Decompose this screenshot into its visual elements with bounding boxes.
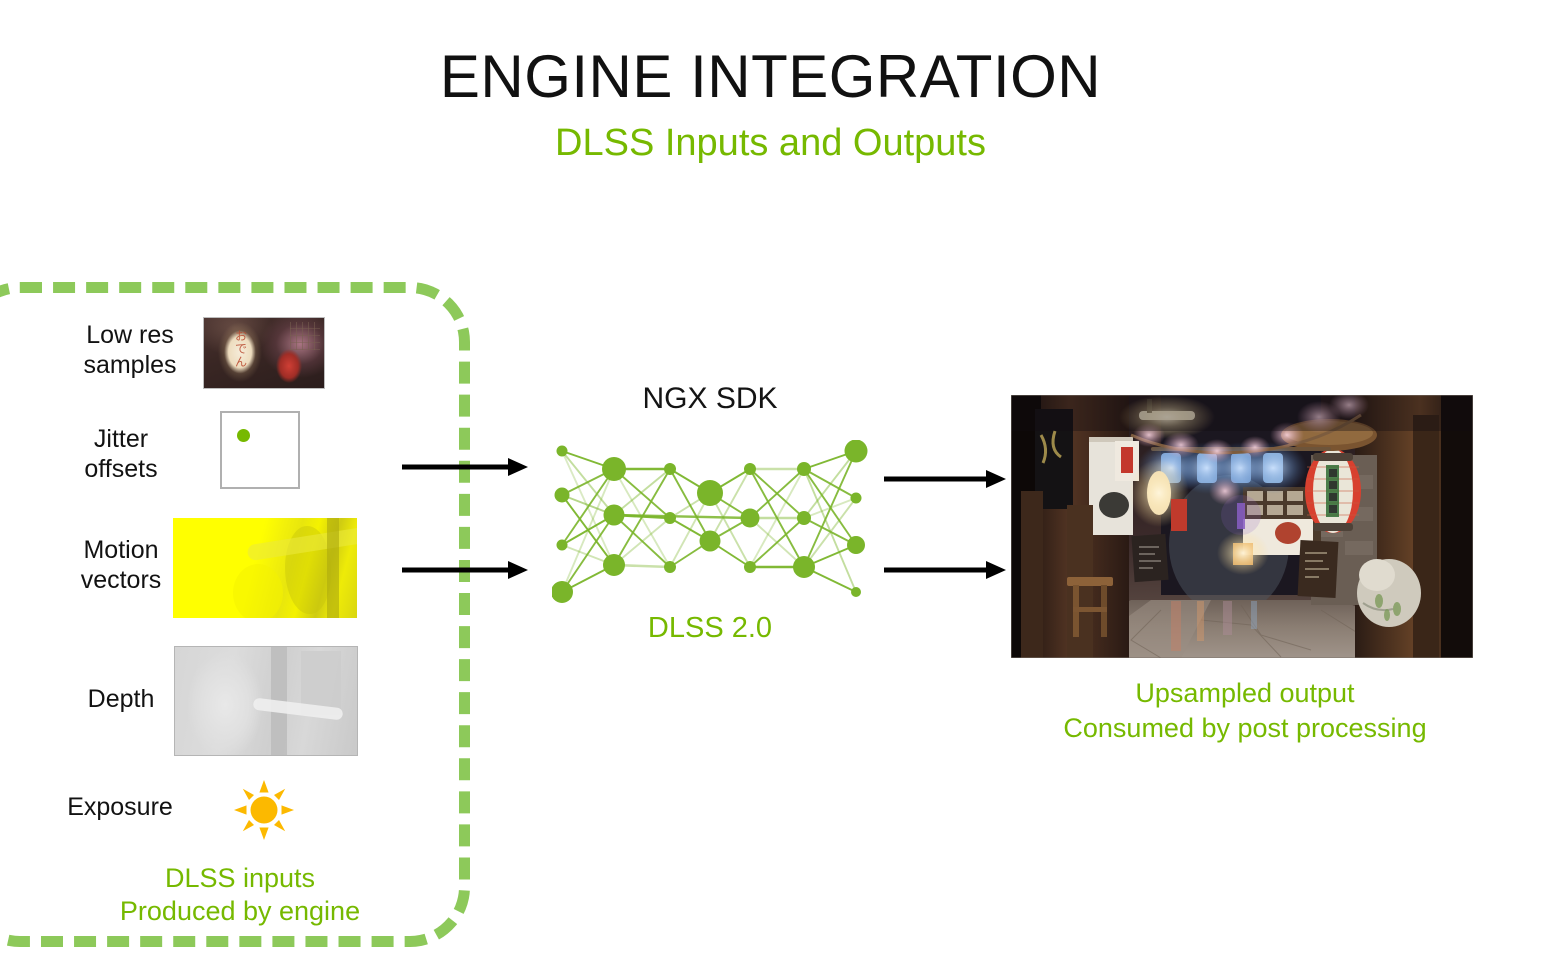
arrow-right-icon-input-2 bbox=[402, 558, 528, 582]
input-row-depth: Depth bbox=[56, 684, 186, 714]
input-label-low-res-samples: Low res samples bbox=[83, 320, 176, 380]
motion-vector-buffer bbox=[173, 518, 357, 618]
arrow-right-icon-output-2 bbox=[884, 558, 1006, 582]
input-label-exposure: Exposure bbox=[67, 792, 173, 822]
motion-bar bbox=[327, 518, 339, 618]
arrow-right-icon-output-1 bbox=[884, 467, 1006, 491]
dlss-version-label: DLSS 2.0 bbox=[560, 610, 860, 646]
page-subtitle: DLSS Inputs and Outputs bbox=[0, 120, 1541, 166]
motion-blob bbox=[233, 564, 283, 618]
lantern-glyphs: おでん bbox=[232, 330, 250, 369]
ngx-sdk-heading: NGX SDK bbox=[560, 381, 860, 417]
arrow-right-icon-input-1 bbox=[402, 455, 528, 479]
input-label-jitter-offsets: Jitter offsets bbox=[84, 424, 157, 484]
sun-icon bbox=[232, 778, 296, 842]
input-row-low-res-samples: Low res samples bbox=[60, 320, 200, 380]
input-label-motion-vectors: Motion vectors bbox=[81, 535, 162, 595]
output-caption: Upsampled output Consumed by post proces… bbox=[1000, 676, 1490, 746]
input-label-depth: Depth bbox=[88, 684, 155, 714]
dlss-inputs-caption: DLSS inputs Produced by engine bbox=[30, 862, 450, 928]
page-title: ENGINE INTEGRATION bbox=[0, 44, 1541, 110]
upsampled-output-image bbox=[1011, 395, 1473, 658]
jitter-sample-dot-icon bbox=[237, 429, 250, 442]
neural-network-diagram bbox=[552, 440, 868, 610]
slide-canvas: ENGINE INTEGRATION DLSS Inputs and Outpu… bbox=[0, 0, 1541, 964]
depth-buffer bbox=[174, 646, 358, 756]
input-row-jitter-offsets: Jitter offsets bbox=[46, 424, 196, 484]
lattice-texture bbox=[290, 322, 320, 350]
low-res-render-thumbnail: おでん bbox=[203, 317, 325, 389]
jitter-offset-box bbox=[220, 411, 300, 489]
input-row-exposure: Exposure bbox=[50, 792, 190, 822]
